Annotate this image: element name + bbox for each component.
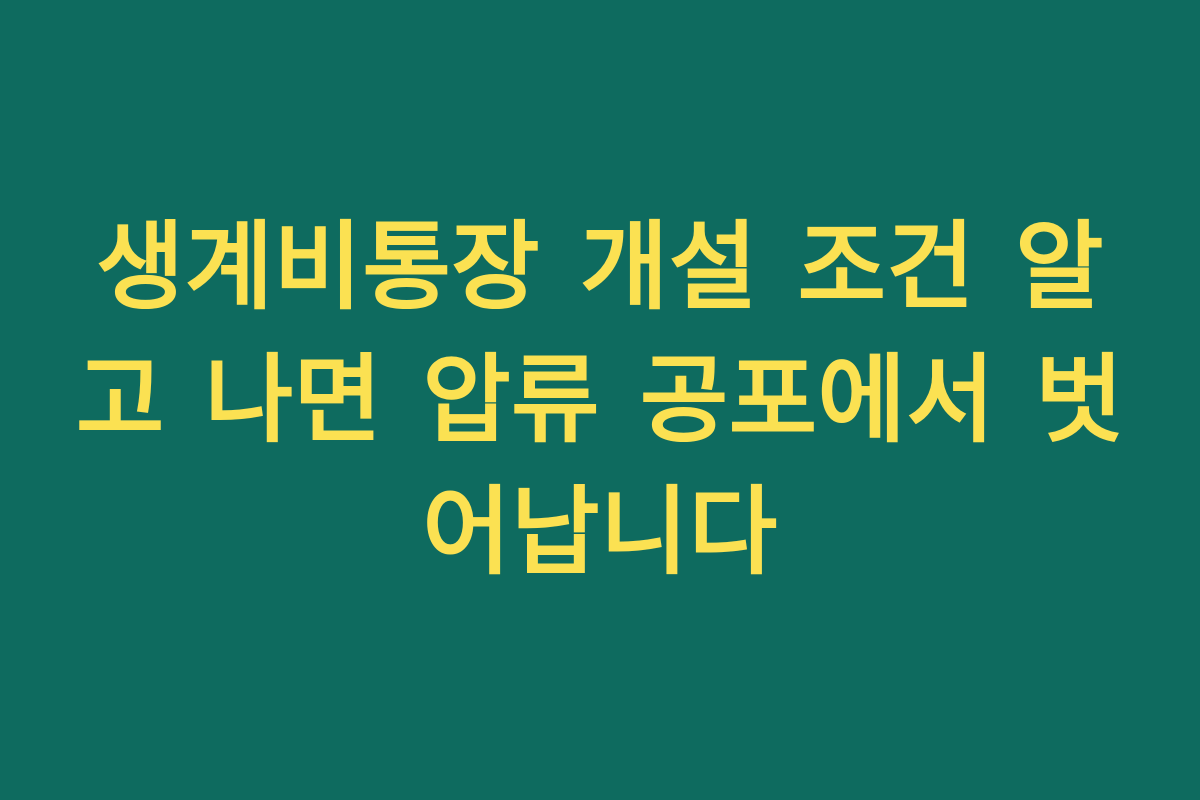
headline-block: 생계비통장 개설 조건 알고 나면 압류 공포에서 벗어납니다 [60, 201, 1140, 598]
thumbnail-card: 생계비통장 개설 조건 알고 나면 압류 공포에서 벗어납니다 [0, 0, 1200, 800]
headline-text: 생계비통장 개설 조건 알고 나면 압류 공포에서 벗어납니다 [70, 201, 1130, 598]
